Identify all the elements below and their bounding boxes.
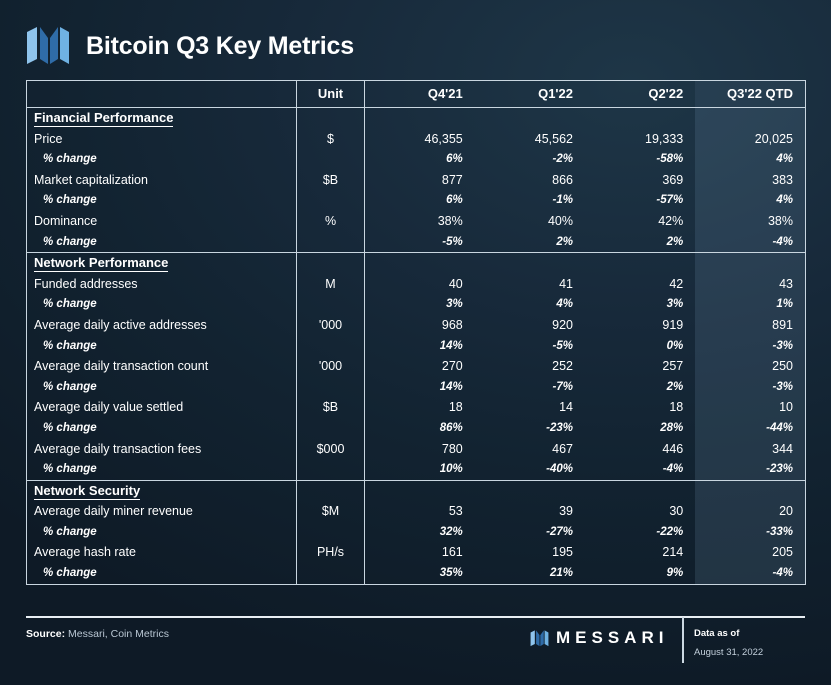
metric-value: 3% bbox=[585, 294, 695, 315]
section-value-cell bbox=[475, 480, 585, 501]
messari-logo-icon bbox=[26, 26, 70, 66]
metric-row: Market capitalization$B877866369383 bbox=[27, 170, 806, 191]
metric-value: 257 bbox=[585, 356, 695, 377]
metric-unit bbox=[297, 336, 365, 357]
metric-value: 42% bbox=[585, 211, 695, 232]
footer-divider-rule bbox=[26, 616, 805, 618]
metric-value: 780 bbox=[365, 439, 475, 460]
metric-label: % change bbox=[27, 294, 297, 315]
metric-label: Average daily transaction count bbox=[27, 356, 297, 377]
metric-unit bbox=[297, 149, 365, 170]
metric-value: -27% bbox=[475, 522, 585, 543]
metric-value: -44% bbox=[695, 418, 805, 439]
section-header-row: Network Performance bbox=[27, 253, 806, 274]
section-value-cell bbox=[365, 108, 475, 129]
metric-value: 43 bbox=[695, 274, 805, 295]
metric-value: -40% bbox=[475, 459, 585, 480]
metric-value: 877 bbox=[365, 170, 475, 191]
metric-unit bbox=[297, 522, 365, 543]
section-value-cell bbox=[695, 108, 805, 129]
metric-value: 18 bbox=[365, 397, 475, 418]
section-unit-cell bbox=[297, 480, 365, 501]
change-row: % change86%-23%28%-44% bbox=[27, 418, 806, 439]
metric-value: 214 bbox=[585, 542, 695, 563]
section-title-text: Financial Performance bbox=[34, 110, 173, 127]
section-value-cell bbox=[585, 253, 695, 274]
metric-unit: $000 bbox=[297, 439, 365, 460]
source-label: Source: bbox=[26, 628, 65, 640]
section-value-cell bbox=[365, 253, 475, 274]
metric-value: 41 bbox=[475, 274, 585, 295]
section-title: Financial Performance bbox=[27, 108, 297, 129]
change-row: % change-5%2%2%-4% bbox=[27, 232, 806, 253]
table-header-row: Unit Q4'21 Q1'22 Q2'22 Q3'22 QTD bbox=[27, 81, 806, 108]
metric-label: Price bbox=[27, 129, 297, 150]
section-unit-cell bbox=[297, 253, 365, 274]
metric-value: -2% bbox=[475, 149, 585, 170]
metric-label: Funded addresses bbox=[27, 274, 297, 295]
metric-unit bbox=[297, 377, 365, 398]
metric-value: 195 bbox=[475, 542, 585, 563]
metric-value: 30 bbox=[585, 501, 695, 522]
section-title-text: Network Security bbox=[34, 483, 140, 500]
metric-unit: $ bbox=[297, 129, 365, 150]
metric-value: 14 bbox=[475, 397, 585, 418]
metric-unit bbox=[297, 418, 365, 439]
table-header: Unit Q4'21 Q1'22 Q2'22 Q3'22 QTD bbox=[27, 81, 806, 108]
poster-canvas: Bitcoin Q3 Key Metrics Unit Q4'21 Q1'22 … bbox=[0, 0, 831, 685]
metric-value: 467 bbox=[475, 439, 585, 460]
metric-value: 10% bbox=[365, 459, 475, 480]
metric-value: 2% bbox=[585, 232, 695, 253]
change-row: % change10%-40%-4%-23% bbox=[27, 459, 806, 480]
metric-value: 250 bbox=[695, 356, 805, 377]
data-as-of-date: August 31, 2022 bbox=[694, 647, 763, 658]
change-row: % change14%-5%0%-3% bbox=[27, 336, 806, 357]
metric-value: 161 bbox=[365, 542, 475, 563]
metric-label: % change bbox=[27, 336, 297, 357]
table-body: Financial PerformancePrice$46,35545,5621… bbox=[27, 108, 806, 585]
section-value-cell bbox=[585, 480, 695, 501]
metric-value: 20 bbox=[695, 501, 805, 522]
metric-value: -7% bbox=[475, 377, 585, 398]
metric-label: Average daily value settled bbox=[27, 397, 297, 418]
metric-label: Market capitalization bbox=[27, 170, 297, 191]
metric-value: -58% bbox=[585, 149, 695, 170]
metric-value: 39 bbox=[475, 501, 585, 522]
source-value: Messari, Coin Metrics bbox=[68, 628, 169, 640]
metric-value: 21% bbox=[475, 563, 585, 584]
metric-label: Dominance bbox=[27, 211, 297, 232]
page-title: Bitcoin Q3 Key Metrics bbox=[86, 32, 354, 61]
metric-value: 14% bbox=[365, 336, 475, 357]
section-value-cell bbox=[475, 108, 585, 129]
metric-value: -1% bbox=[475, 190, 585, 211]
section-value-cell bbox=[475, 253, 585, 274]
metric-value: 40% bbox=[475, 211, 585, 232]
messari-logo-icon bbox=[530, 630, 549, 647]
metric-unit: $B bbox=[297, 397, 365, 418]
metrics-table-container: Unit Q4'21 Q1'22 Q2'22 Q3'22 QTD Financi… bbox=[26, 80, 805, 585]
metric-unit: $B bbox=[297, 170, 365, 191]
metric-value: -4% bbox=[585, 459, 695, 480]
section-title: Network Performance bbox=[27, 253, 297, 274]
metric-value: 252 bbox=[475, 356, 585, 377]
metric-label: % change bbox=[27, 149, 297, 170]
metric-value: 891 bbox=[695, 315, 805, 336]
metric-value: 86% bbox=[365, 418, 475, 439]
metric-value: 42 bbox=[585, 274, 695, 295]
messari-brand: MESSARI bbox=[530, 628, 668, 648]
metric-value: 446 bbox=[585, 439, 695, 460]
metric-unit: '000 bbox=[297, 315, 365, 336]
metric-value: 2% bbox=[585, 377, 695, 398]
metric-value: -23% bbox=[475, 418, 585, 439]
metric-value: 6% bbox=[365, 190, 475, 211]
metric-value: 920 bbox=[475, 315, 585, 336]
metric-value: 14% bbox=[365, 377, 475, 398]
metric-row: Average daily transaction count'00027025… bbox=[27, 356, 806, 377]
metric-value: 28% bbox=[585, 418, 695, 439]
metric-value: 205 bbox=[695, 542, 805, 563]
section-value-cell bbox=[365, 480, 475, 501]
metric-unit: '000 bbox=[297, 356, 365, 377]
metric-label: % change bbox=[27, 377, 297, 398]
footer-vertical-divider bbox=[682, 617, 684, 663]
metric-label: Average hash rate bbox=[27, 542, 297, 563]
metric-unit bbox=[297, 190, 365, 211]
metric-value: 866 bbox=[475, 170, 585, 191]
metric-value: 10 bbox=[695, 397, 805, 418]
metric-value: 35% bbox=[365, 563, 475, 584]
metric-value: 344 bbox=[695, 439, 805, 460]
metrics-table: Unit Q4'21 Q1'22 Q2'22 Q3'22 QTD Financi… bbox=[26, 80, 806, 585]
column-header-q4-21: Q4'21 bbox=[365, 81, 475, 108]
metric-value: 40 bbox=[365, 274, 475, 295]
metric-value: 919 bbox=[585, 315, 695, 336]
metric-row: Price$46,35545,56219,33320,025 bbox=[27, 129, 806, 150]
metric-value: 46,355 bbox=[365, 129, 475, 150]
metric-value: -23% bbox=[695, 459, 805, 480]
section-unit-cell bbox=[297, 108, 365, 129]
metric-value: 0% bbox=[585, 336, 695, 357]
metric-label: Average daily miner revenue bbox=[27, 501, 297, 522]
metric-row: Average daily miner revenue$M53393020 bbox=[27, 501, 806, 522]
change-row: % change14%-7%2%-3% bbox=[27, 377, 806, 398]
change-row: % change3%4%3%1% bbox=[27, 294, 806, 315]
metric-value: -5% bbox=[365, 232, 475, 253]
section-value-cell bbox=[695, 253, 805, 274]
metric-unit: % bbox=[297, 211, 365, 232]
metric-value: -33% bbox=[695, 522, 805, 543]
metric-value: -5% bbox=[475, 336, 585, 357]
poster-header: Bitcoin Q3 Key Metrics bbox=[26, 22, 354, 70]
section-title: Network Security bbox=[27, 480, 297, 501]
metric-value: -57% bbox=[585, 190, 695, 211]
column-header-q2-22: Q2'22 bbox=[585, 81, 695, 108]
metric-unit bbox=[297, 294, 365, 315]
metric-value: 53 bbox=[365, 501, 475, 522]
metric-value: 4% bbox=[695, 190, 805, 211]
metric-value: 3% bbox=[365, 294, 475, 315]
metric-unit bbox=[297, 563, 365, 584]
change-row: % change6%-2%-58%4% bbox=[27, 149, 806, 170]
metric-value: 270 bbox=[365, 356, 475, 377]
metric-unit bbox=[297, 459, 365, 480]
metric-unit bbox=[297, 232, 365, 253]
metric-row: Average daily active addresses'000968920… bbox=[27, 315, 806, 336]
metric-label: % change bbox=[27, 190, 297, 211]
section-title-text: Network Performance bbox=[34, 255, 168, 272]
source-note: Source: Messari, Coin Metrics bbox=[26, 628, 169, 640]
section-value-cell bbox=[695, 480, 805, 501]
data-as-of: Data as of August 31, 2022 bbox=[694, 628, 763, 658]
metric-unit: M bbox=[297, 274, 365, 295]
metric-value: 4% bbox=[695, 149, 805, 170]
change-row: % change6%-1%-57%4% bbox=[27, 190, 806, 211]
section-header-row: Network Security bbox=[27, 480, 806, 501]
metric-label: Average daily active addresses bbox=[27, 315, 297, 336]
change-row: % change35%21%9%-4% bbox=[27, 563, 806, 584]
metric-value: 19,333 bbox=[585, 129, 695, 150]
section-header-row: Financial Performance bbox=[27, 108, 806, 129]
metric-unit: $M bbox=[297, 501, 365, 522]
metric-row: Average daily transaction fees$000780467… bbox=[27, 439, 806, 460]
metric-label: % change bbox=[27, 459, 297, 480]
metric-value: 32% bbox=[365, 522, 475, 543]
column-header-q1-22: Q1'22 bbox=[475, 81, 585, 108]
metric-value: 18 bbox=[585, 397, 695, 418]
metric-label: % change bbox=[27, 522, 297, 543]
metric-row: Average hash ratePH/s161195214205 bbox=[27, 542, 806, 563]
metric-label: % change bbox=[27, 418, 297, 439]
change-row: % change32%-27%-22%-33% bbox=[27, 522, 806, 543]
metric-value: 383 bbox=[695, 170, 805, 191]
metric-value: 1% bbox=[695, 294, 805, 315]
metric-unit: PH/s bbox=[297, 542, 365, 563]
metric-label: % change bbox=[27, 563, 297, 584]
metric-value: 38% bbox=[365, 211, 475, 232]
section-value-cell bbox=[585, 108, 695, 129]
metric-label: Average daily transaction fees bbox=[27, 439, 297, 460]
metric-label: % change bbox=[27, 232, 297, 253]
metric-value: 38% bbox=[695, 211, 805, 232]
data-as-of-label: Data as of bbox=[694, 628, 763, 639]
column-header-metric bbox=[27, 81, 297, 108]
metric-value: 968 bbox=[365, 315, 475, 336]
messari-wordmark: MESSARI bbox=[556, 628, 668, 648]
metric-value: -3% bbox=[695, 377, 805, 398]
metric-value: 9% bbox=[585, 563, 695, 584]
column-header-unit: Unit bbox=[297, 81, 365, 108]
metric-value: 20,025 bbox=[695, 129, 805, 150]
metric-value: 369 bbox=[585, 170, 695, 191]
metric-value: 4% bbox=[475, 294, 585, 315]
metric-value: 6% bbox=[365, 149, 475, 170]
metric-value: 45,562 bbox=[475, 129, 585, 150]
metric-value: -22% bbox=[585, 522, 695, 543]
column-header-q3-22-qtd: Q3'22 QTD bbox=[695, 81, 805, 108]
metric-value: -3% bbox=[695, 336, 805, 357]
metric-row: Dominance%38%40%42%38% bbox=[27, 211, 806, 232]
metric-value: -4% bbox=[695, 232, 805, 253]
metric-value: 2% bbox=[475, 232, 585, 253]
metric-row: Funded addressesM40414243 bbox=[27, 274, 806, 295]
metric-row: Average daily value settled$B18141810 bbox=[27, 397, 806, 418]
metric-value: -4% bbox=[695, 563, 805, 584]
